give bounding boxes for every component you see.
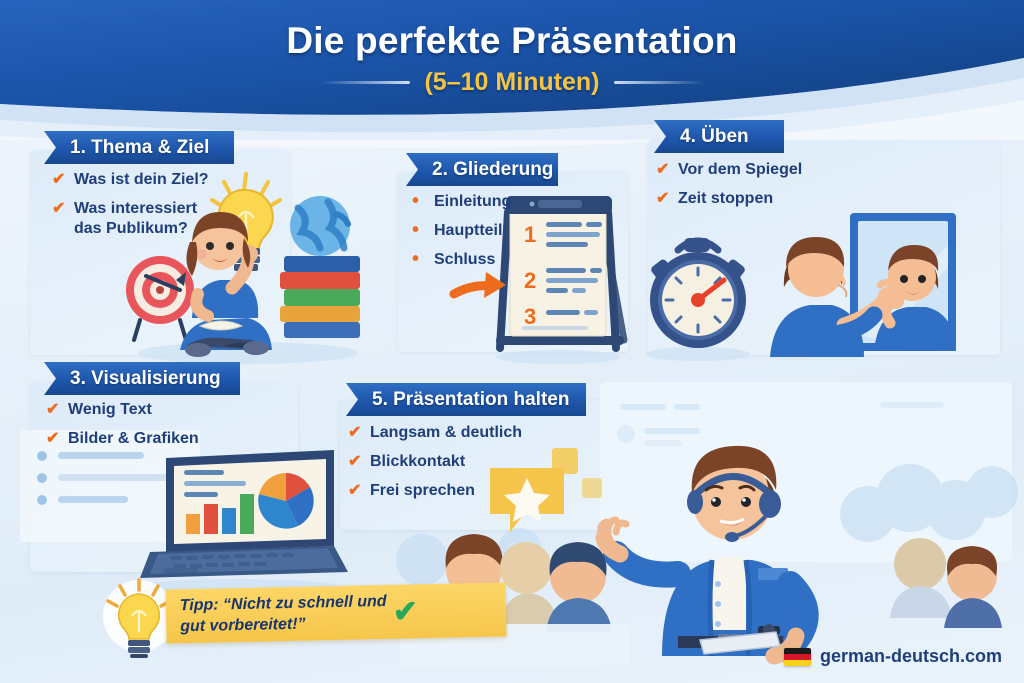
bullet-list-2: • Einleitung • Hauptteil • Schluss: [412, 192, 532, 279]
infographic-poster: Die perfekte Präsentation (5–10 Minuten): [0, 0, 1024, 683]
check-icon: ✔: [656, 189, 670, 209]
audience-member: [546, 542, 612, 632]
page-title: Die perfekte Präsentation: [0, 20, 1024, 62]
book-stack-icon: [280, 256, 360, 338]
ribbon-label-5: 5. Präsentation halten: [372, 389, 569, 411]
header-subtitle: (5–10 Minuten): [424, 68, 599, 97]
bullet-list-1: ✔ Was ist dein Ziel? ✔ Was interessiert …: [52, 170, 262, 248]
bullet-text: Hauptteil: [434, 221, 502, 241]
tip-text: Tipp: “Nicht zu schnell und gut vorberei…: [180, 591, 388, 637]
check-icon: ✔: [348, 423, 362, 443]
bullet-text: Frei sprechen: [370, 481, 475, 501]
dot-icon: •: [412, 192, 426, 210]
audience-member: [944, 546, 1002, 628]
bullet-item: ✔ Zeit stoppen: [656, 189, 856, 209]
laptop-screen: [166, 450, 334, 552]
bullet-item: ✔ Was ist dein Ziel?: [52, 170, 262, 190]
bullet-text: Was interessiert das Publikum?: [74, 199, 197, 239]
check-icon: ✔: [46, 429, 60, 449]
header-banner: Die perfekte Präsentation (5–10 Minuten): [0, 0, 1024, 135]
stopwatch-icon: [630, 232, 770, 362]
ribbon-section-2: 2. Gliederung: [406, 153, 558, 186]
check-icon: ✔: [348, 481, 362, 501]
ribbon-label-3: 3. Visualisierung: [70, 368, 221, 390]
tip-banner: Tipp: “Nicht zu schnell und gut vorberei…: [165, 582, 506, 643]
bullet-item: ✔ Blickkontakt: [348, 452, 578, 472]
bullet-item: • Schluss: [412, 250, 532, 270]
pie-chart-icon: [258, 473, 313, 529]
flipchart-number-3: 3: [524, 304, 536, 329]
bullet-item: ✔ Frei sprechen: [348, 481, 578, 501]
check-icon: ✔: [52, 170, 66, 190]
check-icon: ✔: [348, 452, 362, 472]
header-subtitle-row: (5–10 Minuten): [0, 68, 1024, 97]
check-icon: ✔: [46, 400, 60, 420]
bullet-list-4: ✔ Vor dem Spiegel ✔ Zeit stoppen: [656, 160, 856, 218]
subtitle-rule-left: [320, 81, 410, 84]
dot-icon: •: [412, 250, 426, 268]
bullet-item: ✔ Langsam & deutlich: [348, 423, 578, 443]
bullet-text: Wenig Text: [68, 400, 152, 420]
art-laptop-charts: [128, 448, 358, 598]
ribbon-label-4: 4. Üben: [680, 126, 749, 148]
bullet-item: • Einleitung: [412, 192, 532, 212]
bullet-item: ✔ Was interessiert das Publikum?: [52, 199, 262, 239]
globe-icon: [290, 196, 350, 256]
bullet-text: Bilder & Grafiken: [68, 429, 199, 449]
bullet-text: Schluss: [434, 250, 495, 270]
check-icon: ✔: [52, 199, 66, 219]
dot-icon: •: [412, 221, 426, 239]
bullet-list-3: ✔ Wenig Text ✔ Bilder & Grafiken: [46, 400, 276, 458]
subtitle-rule-right: [614, 81, 704, 84]
ribbon-section-4: 4. Üben: [654, 120, 784, 153]
footer: german-deutsch.com: [784, 646, 1002, 667]
ribbon-section-5: 5. Präsentation halten: [346, 383, 586, 416]
bullet-text: Was ist dein Ziel?: [74, 170, 209, 190]
bullet-list-5: ✔ Langsam & deutlich ✔ Blickkontakt ✔ Fr…: [348, 423, 578, 510]
ribbon-section-1: 1. Thema & Ziel: [44, 131, 234, 164]
bullet-text: Einleitung: [434, 192, 511, 212]
bullet-text: Zeit stoppen: [678, 189, 773, 209]
footer-site-label: german-deutsch.com: [820, 646, 1002, 667]
ribbon-section-3: 3. Visualisierung: [44, 362, 240, 395]
art-mirror-practice: [762, 205, 1012, 360]
bullet-item: ✔ Wenig Text: [46, 400, 276, 420]
bullet-text: Blickkontakt: [370, 452, 465, 472]
bullet-text: Vor dem Spiegel: [678, 160, 802, 180]
bullet-item: ✔ Bilder & Grafiken: [46, 429, 276, 449]
bullet-item: • Hauptteil: [412, 221, 532, 241]
ribbon-label-2: 2. Gliederung: [432, 159, 553, 181]
art-presentation-scene: [600, 378, 1024, 656]
audience-member: [500, 542, 558, 625]
bullet-text: Langsam & deutlich: [370, 423, 522, 443]
ribbon-label-1: 1. Thema & Ziel: [70, 137, 209, 159]
check-icon-green: ✔: [392, 594, 418, 630]
target-icon: [126, 256, 194, 340]
german-flag-icon: [784, 648, 811, 666]
check-icon: ✔: [656, 160, 670, 180]
bullet-item: ✔ Vor dem Spiegel: [656, 160, 856, 180]
